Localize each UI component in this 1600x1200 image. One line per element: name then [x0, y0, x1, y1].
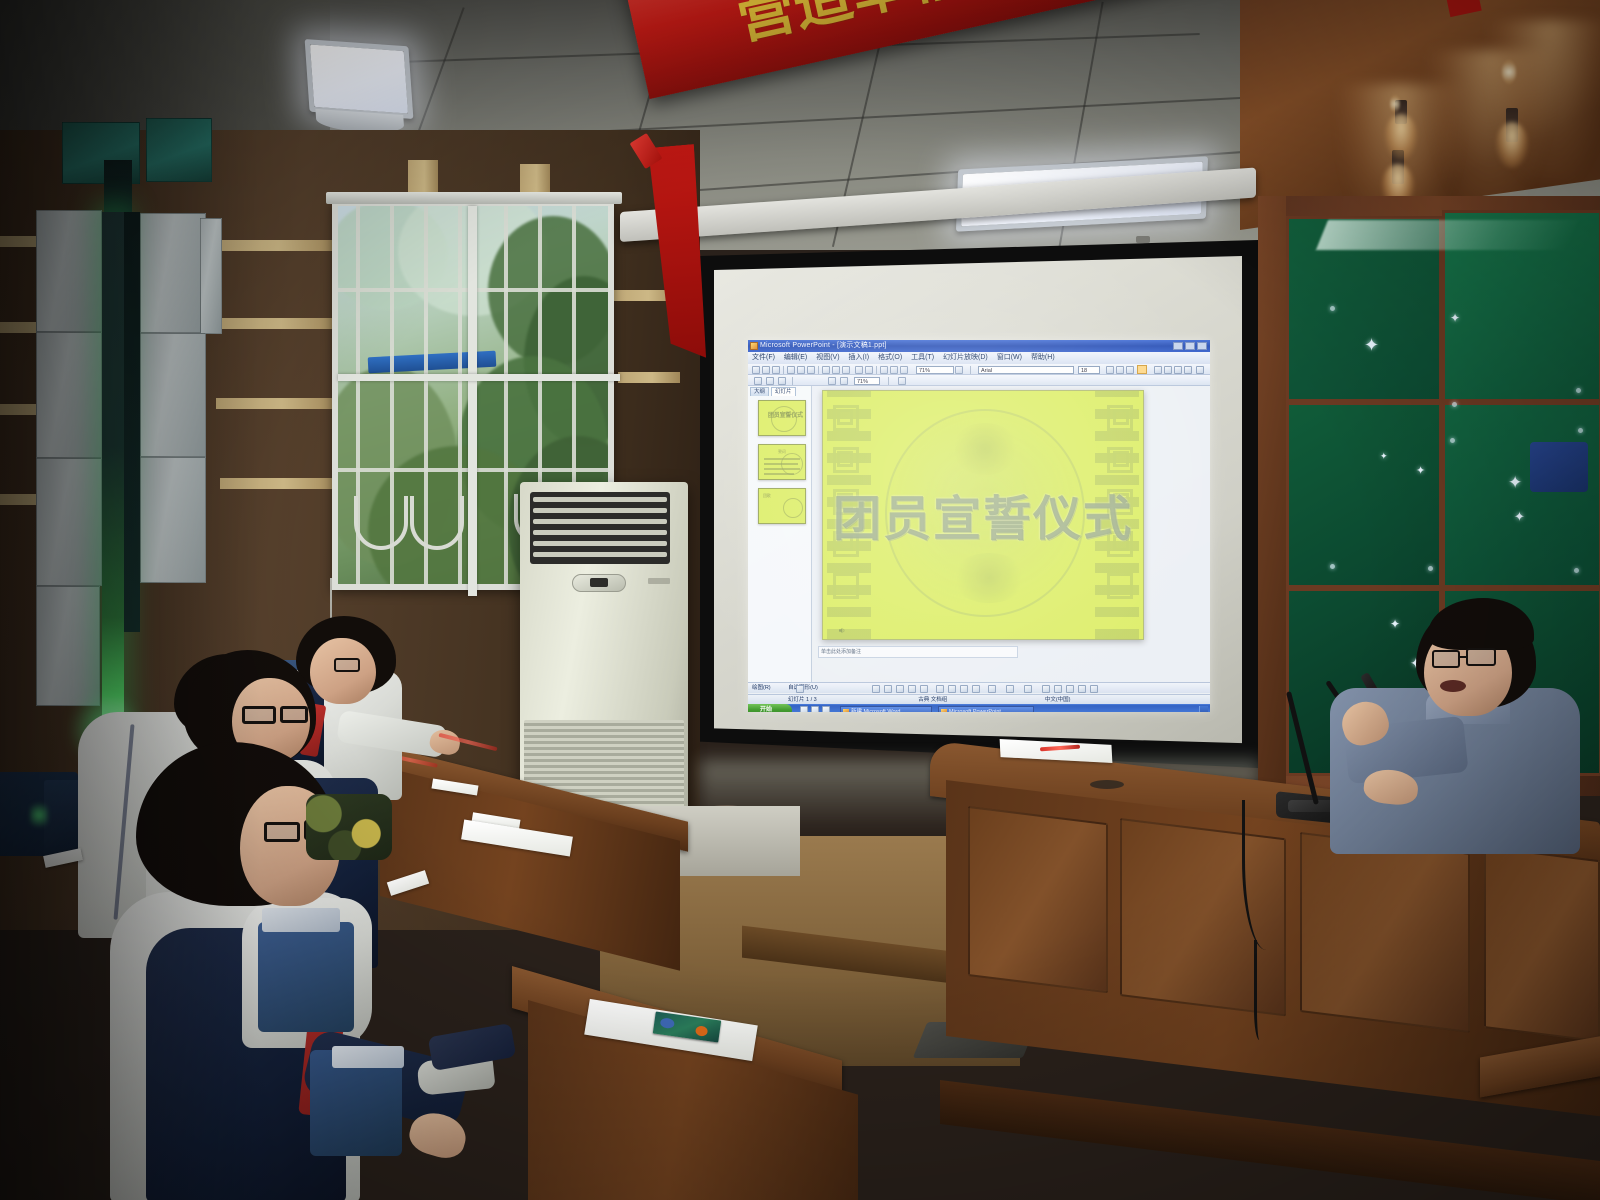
- promote-icon[interactable]: [778, 377, 786, 385]
- dot-decal-4: [1578, 428, 1583, 433]
- print-preview-icon[interactable]: [797, 366, 805, 374]
- window-mullion-horizontal: [338, 374, 620, 381]
- star-decal-3: ✦: [1508, 474, 1522, 491]
- student-second-glasses: [242, 706, 276, 724]
- menu-item-tools[interactable]: 工具(T): [911, 354, 934, 361]
- maximize-button[interactable]: [1185, 342, 1195, 350]
- quicklaunch-media-icon[interactable]: [822, 706, 830, 712]
- student-second-glasses-right: [280, 706, 308, 723]
- save-icon[interactable]: [772, 366, 780, 374]
- chair-headrest-pad-2: [262, 908, 340, 932]
- arrow-icon[interactable]: [884, 685, 892, 693]
- star-decal-1: ✦: [1364, 336, 1379, 354]
- menu-item-insert[interactable]: 插入(I): [849, 354, 870, 361]
- print-icon[interactable]: [787, 366, 795, 374]
- powerpoint-menubar[interactable]: 文件(F) 编辑(E) 视图(V) 插入(I) 格式(O) 工具(T) 幻灯片放…: [748, 352, 1210, 364]
- select-objects-icon[interactable]: [796, 685, 804, 693]
- 3d-style-icon[interactable]: [1090, 685, 1098, 693]
- chair-seat-blue-1[interactable]: [258, 922, 354, 1032]
- picture-icon[interactable]: [972, 685, 980, 693]
- textbox-icon[interactable]: [920, 685, 928, 693]
- chair-headrest-pad: [332, 1046, 404, 1068]
- cut-icon[interactable]: [822, 366, 830, 374]
- italic-icon[interactable]: [1116, 366, 1124, 374]
- system-tray[interactable]: [1199, 706, 1208, 713]
- spotlight-bulb-glow-b: [1502, 60, 1516, 84]
- redo-icon[interactable]: [865, 366, 873, 374]
- slide-seal-dragon-bottom: [951, 553, 1027, 603]
- oval-icon[interactable]: [908, 685, 916, 693]
- column-teal-block-b: [146, 118, 212, 182]
- spellcheck-icon[interactable]: [807, 366, 815, 374]
- clipart-icon[interactable]: [960, 685, 968, 693]
- powerpoint-titlebar: Microsoft PowerPoint - [演示文稿1.ppt]: [748, 340, 1210, 352]
- spotlight-bulb-glow-a: [1390, 95, 1400, 113]
- decrease-indent-icon[interactable]: [766, 377, 774, 385]
- speaker-glasses-left-lens: [1432, 650, 1460, 668]
- rostrum-cable-grommet: [1090, 780, 1124, 789]
- track-spotlight-4: [1506, 108, 1518, 142]
- copy-icon[interactable]: [832, 366, 840, 374]
- star-decal-2: ✦: [1450, 312, 1460, 324]
- font-name-combo[interactable]: Arial: [978, 366, 1074, 374]
- star-decal-5: ✦: [1416, 466, 1425, 477]
- window-controls[interactable]: [1173, 342, 1207, 350]
- close-button[interactable]: [1197, 342, 1207, 350]
- slide-thumbnail-2[interactable]: 2 誓词: [758, 444, 806, 480]
- menu-item-slideshow[interactable]: 幻灯片放映(D): [943, 354, 988, 361]
- slide-title-text[interactable]: 团员宣誓仪式: [823, 479, 1143, 549]
- insert-chart-icon[interactable]: [890, 366, 898, 374]
- taskbar-item-word[interactable]: 新建 Microsoft Word: [840, 706, 932, 713]
- slide-design-icon[interactable]: [840, 377, 848, 385]
- rostrum-panel-3: [1300, 832, 1470, 1033]
- cabinet-blue-exhibit: [1530, 442, 1588, 492]
- formatting-toolbar[interactable]: 71%: [748, 375, 1210, 386]
- align-center-icon[interactable]: [1174, 366, 1182, 374]
- font-size-combo[interactable]: 18: [1078, 366, 1100, 374]
- menu-item-edit[interactable]: 编辑(E): [784, 354, 807, 361]
- thumbnail-caption-2: 誓词: [778, 449, 786, 454]
- rectangle-icon[interactable]: [896, 685, 904, 693]
- design-template-name: 古典 文档组: [918, 697, 947, 703]
- dot-decal-5: [1330, 564, 1335, 569]
- standard-toolbar[interactable]: 71% Arial 18: [748, 364, 1210, 375]
- dot-decal-3: [1576, 388, 1581, 393]
- menu-item-window[interactable]: 窗口(W): [997, 354, 1022, 361]
- slide-layout-icon[interactable]: [828, 377, 836, 385]
- blue-awning-outside: [368, 351, 497, 374]
- start-button[interactable]: 开始: [748, 704, 792, 712]
- cabinet-pane-3: [1286, 402, 1442, 588]
- photo-scene: Microsoft PowerPoint - [演示文稿1.ppt] 文件(F)…: [0, 0, 1600, 1200]
- font-color-icon[interactable]: [1024, 685, 1032, 693]
- slide-counter: 幻灯片 1 / 3: [788, 697, 817, 703]
- speaker-glasses-bridge: [1459, 656, 1467, 658]
- language-indicator: 中文(中国): [1045, 697, 1071, 703]
- window-mullion-vertical: [468, 206, 477, 596]
- thumbnail-caption-1: 团员宣誓仪式: [768, 414, 803, 419]
- menu-item-help[interactable]: 帮助(H): [1031, 354, 1055, 361]
- hyperlink-icon[interactable]: [900, 366, 908, 374]
- dot-decal-2: [1452, 402, 1457, 407]
- chevron-down-icon[interactable]: [955, 366, 963, 374]
- insert-table-icon[interactable]: [880, 366, 888, 374]
- quicklaunch-ie-icon[interactable]: [800, 706, 808, 712]
- ac-display: [590, 578, 608, 587]
- bold-icon[interactable]: [1106, 366, 1114, 374]
- tab-outline[interactable]: 大纲: [750, 387, 769, 396]
- menu-item-format[interactable]: 格式(O): [878, 354, 902, 361]
- speaker-mouth: [1440, 680, 1466, 692]
- undo-icon[interactable]: [855, 366, 863, 374]
- rostrum-panel-1: [968, 806, 1108, 993]
- ac-brand-label: [648, 578, 670, 584]
- speaker-glasses-right-lens: [1466, 648, 1496, 666]
- slide-audio-icon[interactable]: [837, 622, 847, 631]
- screen-housing-bracket: [1136, 236, 1150, 243]
- taskbar-item-powerpoint[interactable]: Microsoft PowerPoint: [938, 706, 1034, 713]
- slide-seal-dragon-top: [951, 423, 1019, 475]
- increase-indent-icon[interactable]: [754, 377, 762, 385]
- dot-decal-8: [1574, 568, 1579, 573]
- dash-style-icon[interactable]: [1054, 685, 1062, 693]
- student-front-glasses: [264, 822, 300, 842]
- wordart-icon[interactable]: [936, 685, 944, 693]
- menu-item-view[interactable]: 视图(V): [816, 354, 839, 361]
- speaker-at-rostrum: [1320, 592, 1590, 852]
- wall-stripe-7: [216, 398, 336, 409]
- star-decal-4: ✦: [1514, 510, 1525, 523]
- drawing-toolbar[interactable]: 绘图(R) 自选图形(U): [748, 682, 1210, 693]
- paste-icon[interactable]: [842, 366, 850, 374]
- pane-tab-group[interactable]: 大纲 幻灯片: [750, 387, 796, 396]
- notes-pane[interactable]: 单击此处添加备注: [818, 646, 1018, 658]
- shadow-style-icon[interactable]: [1078, 685, 1086, 693]
- quicklaunch-desktop-icon[interactable]: [811, 706, 819, 712]
- underline-icon[interactable]: [1126, 366, 1134, 374]
- dot-decal-1: [1330, 306, 1335, 311]
- wall-stripe-5: [208, 240, 336, 251]
- task-pane-icon[interactable]: [898, 377, 906, 385]
- projection-screen-surface: Microsoft PowerPoint - [演示文稿1.ppt] 文件(F)…: [714, 256, 1242, 748]
- arrow-style-icon[interactable]: [1066, 685, 1074, 693]
- align-left-icon[interactable]: [1164, 366, 1172, 374]
- powerpoint-title-text: Microsoft PowerPoint - [演示文稿1.ppt]: [760, 342, 887, 349]
- fill-color-icon[interactable]: [988, 685, 996, 693]
- ac-top-grille: [530, 492, 670, 564]
- new-slide-icon[interactable]: [1196, 366, 1204, 374]
- monitor-green-led: [30, 800, 48, 830]
- speaker-hair-front: [1428, 598, 1534, 650]
- window-head-rail: [326, 192, 622, 204]
- new-icon[interactable]: [752, 366, 760, 374]
- view-zoom-combo[interactable]: 71%: [854, 377, 880, 385]
- slide-thumbnail-3[interactable]: 3 团歌: [758, 488, 806, 524]
- slide-thumbnail-pane[interactable]: 大纲 幻灯片 1 团员宣誓仪式 2 誓词: [748, 386, 812, 682]
- open-icon[interactable]: [762, 366, 770, 374]
- powerpoint-window[interactable]: Microsoft PowerPoint - [演示文稿1.ppt] 文件(F)…: [748, 340, 1210, 712]
- cabinet-pane-4: [1442, 402, 1600, 588]
- slide-thumbnail-1[interactable]: 1 团员宣誓仪式: [758, 400, 806, 436]
- camouflage-bag[interactable]: [306, 794, 392, 860]
- dot-decal-6: [1428, 566, 1433, 571]
- microphone-cable-lower: [1254, 940, 1272, 1040]
- dot-decal-7: [1450, 438, 1455, 443]
- diagram-icon[interactable]: [948, 685, 956, 693]
- menu-item-file[interactable]: 文件(F): [752, 354, 775, 361]
- slide-editing-canvas[interactable]: 团员宣誓仪式: [822, 390, 1144, 640]
- minimize-button[interactable]: [1173, 342, 1183, 350]
- star-decal-8: ✦: [1380, 452, 1388, 461]
- wall-stripe-10: [618, 372, 680, 383]
- line-color-icon[interactable]: [1006, 685, 1014, 693]
- windows-taskbar[interactable]: 开始 新建 Microsoft Word Microsoft PowerPoin…: [748, 704, 1210, 712]
- tab-slides[interactable]: 幻灯片: [771, 387, 796, 396]
- line-icon[interactable]: [872, 685, 880, 693]
- bullets-icon[interactable]: [1184, 366, 1192, 374]
- recessed-panel-light-left: [310, 44, 408, 113]
- shadow-icon[interactable]: [1137, 365, 1147, 374]
- increase-font-icon[interactable]: [1154, 366, 1162, 374]
- rostrum-panel-4: [1484, 846, 1600, 1042]
- powerpoint-statusbar: 幻灯片 1 / 3 古典 文档组 中文(中国): [748, 694, 1210, 704]
- draw-menu-button[interactable]: 绘图(R): [752, 685, 771, 691]
- zoom-combo[interactable]: 71%: [916, 366, 954, 374]
- line-style-icon[interactable]: [1042, 685, 1050, 693]
- powerpoint-app-icon: [750, 342, 758, 350]
- wall-stripe-8: [220, 478, 336, 489]
- cabinet-glass-reflection: [1316, 220, 1578, 250]
- thumbnail-caption-3: 团歌: [763, 493, 771, 498]
- cabinet-left-stile: [1258, 196, 1286, 796]
- wall-stripe-6: [212, 318, 338, 329]
